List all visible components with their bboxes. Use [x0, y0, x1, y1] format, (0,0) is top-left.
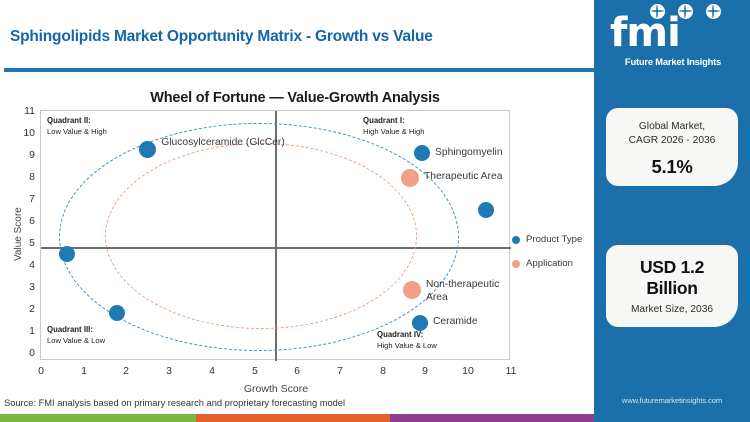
- legend-label-product-type: Product Type: [526, 234, 582, 245]
- cagr-card-line2: CAGR 2026 - 2036: [606, 134, 738, 148]
- x-tick-6: 6: [285, 365, 309, 377]
- y-tick-9: 9: [11, 149, 35, 161]
- data-point-blue-left[interactable]: [59, 246, 75, 262]
- fmi-logo: fmi Future Market Insights: [610, 6, 736, 72]
- quadrant-III-desc: Low Value & Low: [47, 336, 105, 345]
- x-tick-1: 1: [72, 365, 96, 377]
- quadrant-label-I: Quadrant I: High Value & High: [363, 115, 425, 137]
- point-label-therapeutic-area: Therapeutic Area: [424, 171, 502, 184]
- legend-dot-icon-application: [512, 260, 520, 268]
- fmi-logo-tagline: Future Market Insights: [610, 56, 736, 67]
- data-point-ceramide[interactable]: [412, 315, 428, 331]
- title-divider: [4, 68, 594, 72]
- quadrant-I-desc: High Value & High: [363, 127, 425, 136]
- x-tick-5: 5: [243, 365, 267, 377]
- legend-item-product-type[interactable]: Product Type: [512, 234, 592, 245]
- market-size-value-line1: USD 1.2: [606, 257, 738, 278]
- cagr-card-line1: Global Market,: [606, 120, 738, 134]
- data-point-blue-lowerleft[interactable]: [109, 305, 125, 321]
- x-axis-label: Growth Score: [41, 383, 511, 395]
- legend-dot-icon-product-type: [512, 236, 520, 244]
- y-tick-2: 2: [11, 303, 35, 315]
- footer-segment-purple: [390, 414, 594, 422]
- y-tick-3: 3: [11, 281, 35, 293]
- footer-segment-blue: [594, 414, 750, 422]
- x-tick-7: 7: [328, 365, 352, 377]
- legend-label-application: Application: [526, 258, 573, 269]
- quadrant-label-IV: Quadrant IV: High Value & Low: [377, 329, 437, 351]
- market-size-subtitle: Market Size, 2036: [606, 304, 738, 315]
- cagr-card-value: 5.1%: [606, 156, 738, 178]
- chart-legend: Product Type Application: [512, 234, 592, 282]
- quadrant-label-III: Quadrant III: Low Value & Low: [47, 324, 105, 346]
- quadrant-II-desc: Low Value & High: [47, 127, 107, 136]
- scatter-plot-area: 11 10 9 8 7 6 5 4 3 2 1 0 0 1 2 3 4 5 6 …: [40, 110, 510, 360]
- x-tick-2: 2: [114, 365, 138, 377]
- x-tick-0: 0: [29, 365, 53, 377]
- website-url: www.futuremarketinsights.com: [594, 396, 750, 405]
- quadrant-II-title: Quadrant II:: [47, 116, 91, 125]
- footer-color-bar: [0, 414, 750, 422]
- legend-item-application[interactable]: Application: [512, 258, 592, 269]
- sidebar-logo-area: fmi Future Market Insights: [594, 0, 750, 80]
- footer-segment-green: [0, 414, 196, 422]
- y-tick-1: 1: [11, 325, 35, 337]
- application-ellipse: [105, 143, 417, 329]
- point-label-ceramide: Ceramide: [433, 316, 478, 329]
- market-size-value-line2: Billion: [606, 278, 738, 299]
- x-tick-11: 11: [499, 365, 523, 377]
- quadrant-III-title: Quadrant III:: [47, 325, 93, 334]
- page-title: Sphingolipids Market Opportunity Matrix …: [10, 28, 570, 46]
- quadrant-I-title: Quadrant I:: [363, 116, 405, 125]
- point-label-sphingomyelin: Sphingomyelin: [435, 147, 503, 160]
- y-tick-7: 7: [11, 193, 35, 205]
- x-tick-10: 10: [456, 365, 480, 377]
- y-tick-0: 0: [11, 347, 35, 359]
- x-tick-4: 4: [200, 365, 224, 377]
- data-point-therapeutic-area[interactable]: [401, 169, 419, 187]
- x-tick-9: 9: [413, 365, 437, 377]
- x-tick-3: 3: [157, 365, 181, 377]
- source-note: Source: FMI analysis based on primary re…: [4, 398, 345, 408]
- y-axis-label: Value Score: [13, 207, 24, 261]
- fmi-logo-wordmark: fmi: [610, 12, 736, 54]
- cagr-card: Global Market, CAGR 2026 - 2036 5.1%: [606, 108, 738, 186]
- x-tick-8: 8: [371, 365, 395, 377]
- point-label-non-therapeutic-area: Non-therapeutic Area: [426, 279, 516, 305]
- chart-title: Wheel of Fortune — Value-Growth Analysis: [60, 90, 530, 106]
- sidebar: fmi Future Market Insights Global Market…: [594, 0, 750, 422]
- infographic-page: Sphingolipids Market Opportunity Matrix …: [0, 0, 750, 422]
- point-label-glucosylceramide-text: Glucosylceramide (GlcCer): [161, 137, 285, 148]
- point-label-glucosylceramide: Glucosylceramide (GlcCer): [158, 137, 288, 150]
- data-point-sphingomyelin[interactable]: [414, 145, 430, 161]
- y-tick-8: 8: [11, 171, 35, 183]
- data-point-non-therapeutic-area[interactable]: [403, 281, 421, 299]
- market-size-card: USD 1.2 Billion Market Size, 2036: [606, 245, 738, 327]
- quadrant-IV-title: Quadrant IV:: [377, 330, 423, 339]
- data-point-blue-right[interactable]: [478, 202, 494, 218]
- y-tick-10: 10: [11, 127, 35, 139]
- y-tick-11: 11: [11, 105, 35, 117]
- footer-segment-orange: [196, 414, 390, 422]
- quadrant-label-II: Quadrant II: Low Value & High: [47, 115, 107, 137]
- quadrant-IV-desc: High Value & Low: [377, 341, 437, 350]
- data-point-glucosylceramide[interactable]: [139, 141, 156, 158]
- main-panel: Sphingolipids Market Opportunity Matrix …: [0, 0, 594, 422]
